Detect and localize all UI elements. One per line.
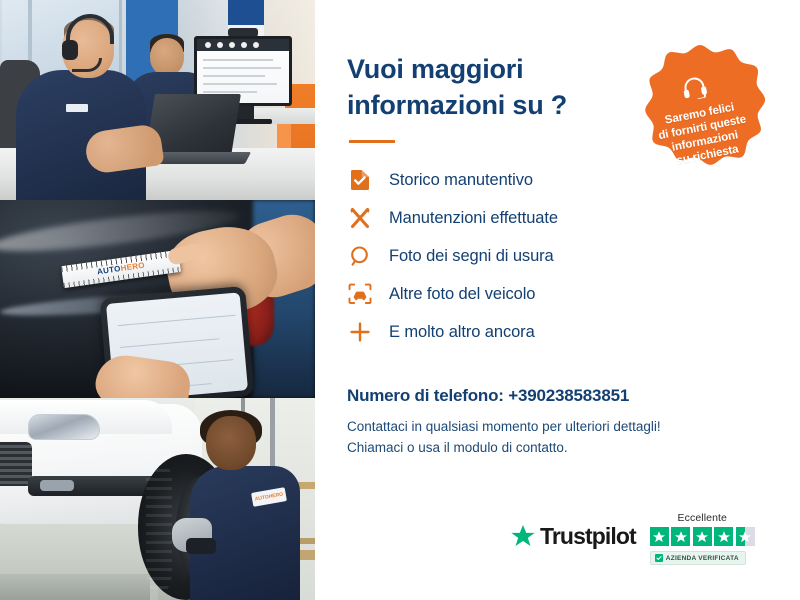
headline-divider: [349, 140, 395, 143]
headset-icon: [679, 73, 710, 106]
headline-line-2: informazioni su ?: [347, 90, 567, 120]
star-filled: [650, 527, 669, 546]
badge-text: Saremo felici di fornirti queste informa…: [655, 98, 753, 171]
screen-dot: [217, 42, 223, 48]
trustpilot-star-icon: [510, 524, 536, 549]
phone-number[interactable]: +390238583851: [508, 386, 629, 405]
star-half: [736, 527, 755, 546]
car-headlight: [28, 414, 100, 440]
list-item-label: Foto dei segni di usura: [389, 247, 554, 266]
list-item-label: Altre foto del veicolo: [389, 285, 535, 304]
tablet-line: [120, 338, 220, 348]
screen-row: [203, 83, 277, 85]
car-frame-icon: [347, 281, 373, 307]
contact-subtext-line-2: Chiamaci o usa il modulo di contatto.: [347, 440, 568, 455]
vehicle-inspection-ruler-photo: AUTOHERO: [0, 200, 315, 398]
list-item: Foto dei segni di usura: [347, 237, 772, 275]
content-panel: Vuoi maggiori informazioni su ? Storico …: [315, 0, 800, 600]
badge-content: Saremo felici di fornirti queste informa…: [613, 29, 787, 203]
list-item: Manutenzioni effettuate: [347, 199, 772, 237]
trustpilot-widget[interactable]: Trustpilot Eccellente: [510, 512, 755, 566]
tire-tread: [146, 460, 172, 594]
car-grille: [0, 442, 32, 486]
status-badge: Saremo felici di fornirti queste informa…: [626, 42, 774, 190]
list-item-label: Storico manutentivo: [389, 171, 533, 190]
trustpilot-rating-block: Eccellente: [650, 512, 755, 566]
star-filled: [714, 527, 733, 546]
magnifier-icon: [347, 243, 373, 269]
phone-line: Numero di telefono: +390238583851: [347, 386, 772, 406]
car-fog-light: [40, 480, 74, 491]
list-item: Altre foto del veicolo: [347, 275, 772, 313]
mechanic-tire-inspection-photo: AUTOHERO: [0, 398, 315, 600]
list-item-label: E molto altro ancora: [389, 323, 535, 342]
headset-earcup: [62, 40, 78, 60]
phone-label: Numero di telefono:: [347, 386, 504, 405]
trustpilot-stars: [650, 527, 755, 546]
mechanic-head: [206, 416, 256, 470]
verified-company-label: AZIENDA VERIFICATA: [666, 555, 739, 562]
screen-dot: [253, 42, 259, 48]
headline-line-1: Vuoi maggiori: [347, 54, 523, 84]
agent-2-head: [150, 38, 184, 76]
agent-1-name-badge: [66, 104, 88, 112]
vehicle-lift-platform: [0, 574, 150, 600]
plus-icon: [347, 319, 373, 345]
contact-block: Numero di telefono: +390238583851 Contat…: [347, 386, 772, 458]
screen-dot: [241, 42, 247, 48]
call-center-agents-photo: [0, 0, 315, 200]
verified-company-badge: AZIENDA VERIFICATA: [650, 551, 746, 565]
list-item: E molto altro ancora: [347, 313, 772, 351]
screen-row: [203, 75, 265, 77]
contact-subtext-line-1: Contattaci in qualsiasi momento per ulte…: [347, 419, 661, 434]
glove-cuff: [186, 538, 216, 554]
tablet-line: [118, 315, 236, 326]
list-item-label: Manutenzioni effettuate: [389, 209, 558, 228]
promo-panel: AUTOHERO: [0, 0, 800, 600]
page-title: Vuoi maggiori informazioni su ?: [347, 52, 617, 123]
check-icon: [655, 554, 663, 562]
tools-cross-icon: [347, 205, 373, 231]
document-check-icon: [347, 167, 373, 193]
screen-row: [203, 91, 257, 93]
trustpilot-wordmark: Trustpilot: [540, 523, 636, 550]
screen-row: [203, 67, 281, 69]
screen-row: [203, 59, 273, 61]
star-filled: [693, 527, 712, 546]
contact-subtext: Contattaci in qualsiasi momento per ulte…: [347, 417, 772, 458]
screen-dot: [229, 42, 235, 48]
trustpilot-logo: Trustpilot: [510, 523, 636, 550]
star-filled: [671, 527, 690, 546]
trustpilot-rating-text: Eccellente: [650, 512, 755, 524]
photo-column: AUTOHERO: [0, 0, 315, 600]
screen-dot: [205, 42, 211, 48]
